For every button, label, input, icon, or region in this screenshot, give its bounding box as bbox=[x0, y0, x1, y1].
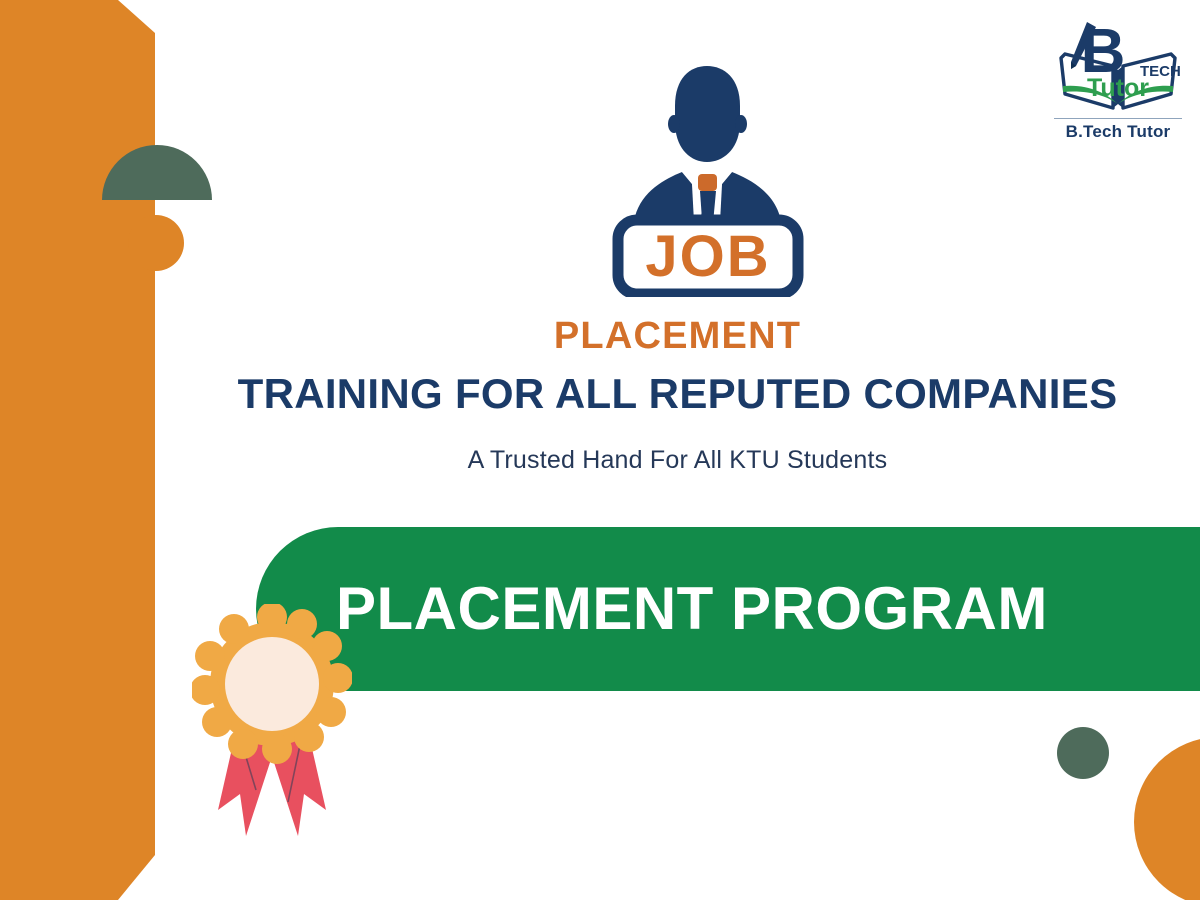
rosette-center bbox=[225, 637, 319, 731]
banner-title: PLACEMENT PROGRAM bbox=[336, 579, 1048, 639]
logo-wordmark: B.Tech Tutor bbox=[1043, 123, 1193, 140]
logo-mark-icon: B TECH Tutor bbox=[1043, 14, 1193, 116]
program-banner: PLACEMENT PROGRAM bbox=[256, 527, 1200, 691]
orange-accent-circle bbox=[1134, 737, 1200, 900]
green-accent-circle bbox=[1057, 727, 1109, 779]
subheadline-text: A Trusted Hand For All KTU Students bbox=[155, 445, 1200, 475]
eyebrow-text: PLACEMENT bbox=[155, 315, 1200, 359]
award-rosette-badge bbox=[192, 604, 352, 844]
brand-logo: B TECH Tutor B.Tech Tutor bbox=[1043, 14, 1193, 146]
job-sign-label: JOB bbox=[645, 224, 770, 289]
orange-circle-bump bbox=[128, 215, 184, 271]
page-title: TRAINING FOR ALL REPUTED COMPANIES bbox=[155, 369, 1200, 419]
left-orange-panel bbox=[0, 0, 155, 900]
job-seeker-illustration: JOB bbox=[600, 62, 815, 297]
headline-block: PLACEMENT TRAINING FOR ALL REPUTED COMPA… bbox=[155, 315, 1200, 475]
tie-knot bbox=[698, 174, 717, 191]
logo-divider bbox=[1054, 118, 1182, 119]
head-shape bbox=[675, 66, 740, 162]
logo-tutor-label: Tutor bbox=[1087, 74, 1149, 102]
promotional-poster: B TECH Tutor B.Tech Tutor bbox=[0, 0, 1200, 900]
